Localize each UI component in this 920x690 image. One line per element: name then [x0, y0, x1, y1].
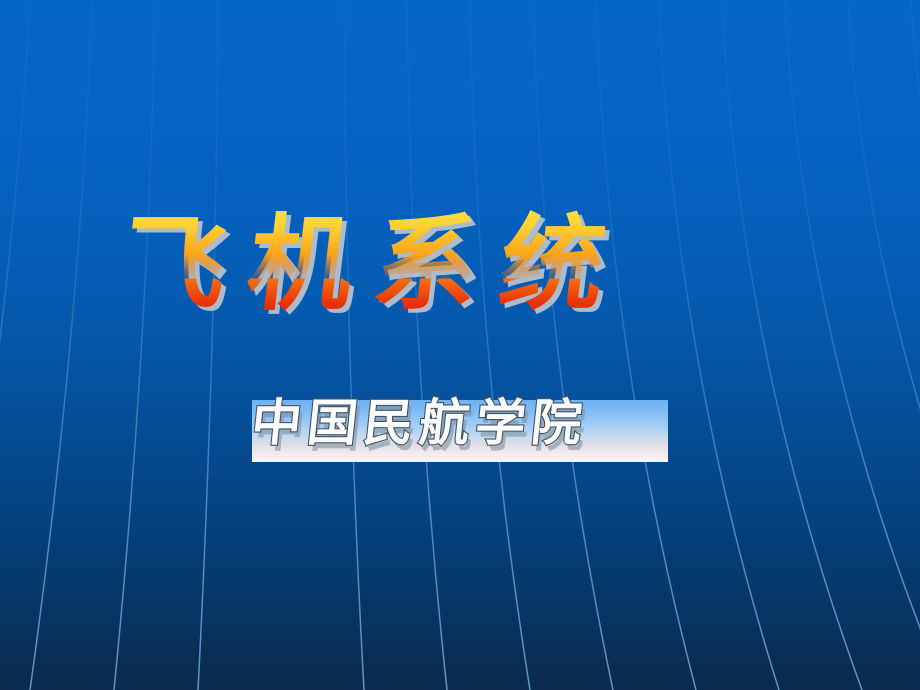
globe-grid-background [0, 0, 920, 690]
title-glyphs: 飞机系统 [115, 203, 634, 325]
title-shadow-layer: 飞机系统 [119, 207, 638, 329]
slide-title: 飞机系统 飞机系统 [0, 186, 920, 346]
subtitle-plaque [252, 400, 668, 462]
title-slide: 飞机系统 飞机系统 中国民航学院 中国民航学院 [0, 0, 920, 690]
